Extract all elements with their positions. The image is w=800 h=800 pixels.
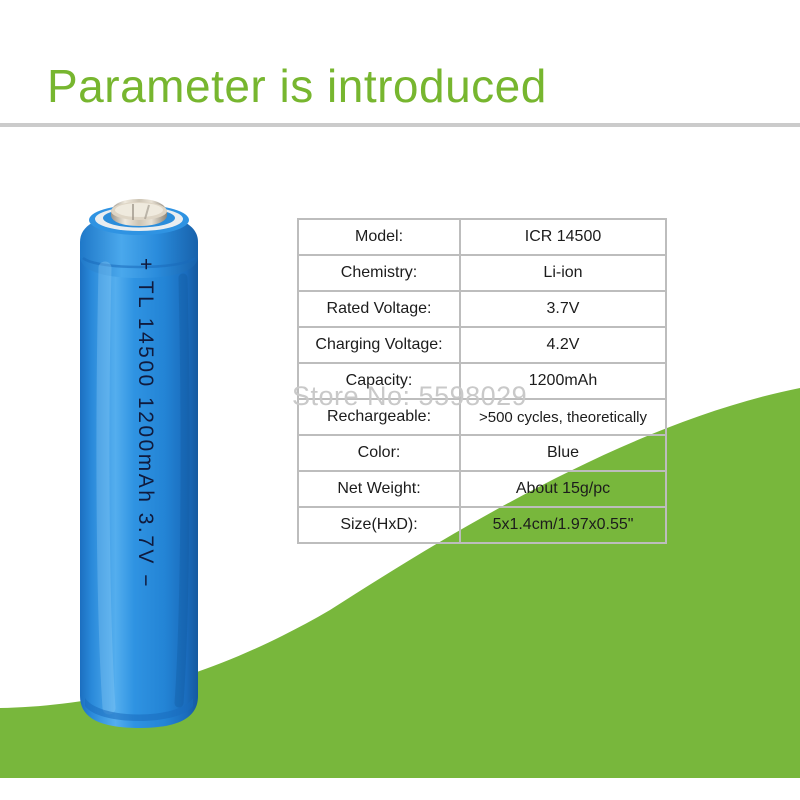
battery-illustration: + TL 14500 1200mAh 3.7V − [75, 198, 203, 728]
spec-value: About 15g/pc [460, 471, 666, 507]
spec-label: Model: [298, 219, 460, 255]
spec-value: Blue [460, 435, 666, 471]
spec-label: Net Weight: [298, 471, 460, 507]
battery-label-text: + TL 14500 1200mAh 3.7V − [134, 258, 157, 589]
table-row: Color: Blue [298, 435, 666, 471]
spec-value: 5x1.4cm/1.97x0.55" [460, 507, 666, 543]
spec-value: 4.2V [460, 327, 666, 363]
spec-value: ICR 14500 [460, 219, 666, 255]
spec-label: Chemistry: [298, 255, 460, 291]
product-spec-page: + TL 14500 1200mAh 3.7V − Model: ICR 145… [0, 0, 800, 800]
specification-table-body: Model: ICR 14500 Chemistry: Li-ion Rated… [298, 219, 666, 543]
table-row: Chemistry: Li-ion [298, 255, 666, 291]
table-row: Net Weight: About 15g/pc [298, 471, 666, 507]
table-row: Size(HxD): 5x1.4cm/1.97x0.55" [298, 507, 666, 543]
spec-label: Charging Voltage: [298, 327, 460, 363]
spec-value: 1200mAh [460, 363, 666, 399]
spec-label: Size(HxD): [298, 507, 460, 543]
spec-label: Rated Voltage: [298, 291, 460, 327]
battery-photo: + TL 14500 1200mAh 3.7V − [75, 198, 203, 728]
spec-value: 3.7V [460, 291, 666, 327]
table-row: Model: ICR 14500 [298, 219, 666, 255]
page-title: Parameter is introduced [47, 63, 547, 109]
spec-label: Capacity: [298, 363, 460, 399]
table-row: Rechargeable: >500 cycles, theoretically [298, 399, 666, 435]
spec-label: Color: [298, 435, 460, 471]
table-row: Rated Voltage: 3.7V [298, 291, 666, 327]
header-divider [0, 123, 800, 127]
spec-value: >500 cycles, theoretically [460, 399, 666, 435]
spec-label: Rechargeable: [298, 399, 460, 435]
specification-table: Model: ICR 14500 Chemistry: Li-ion Rated… [297, 218, 667, 544]
table-row: Charging Voltage: 4.2V [298, 327, 666, 363]
table-row: Capacity: 1200mAh [298, 363, 666, 399]
spec-value: Li-ion [460, 255, 666, 291]
